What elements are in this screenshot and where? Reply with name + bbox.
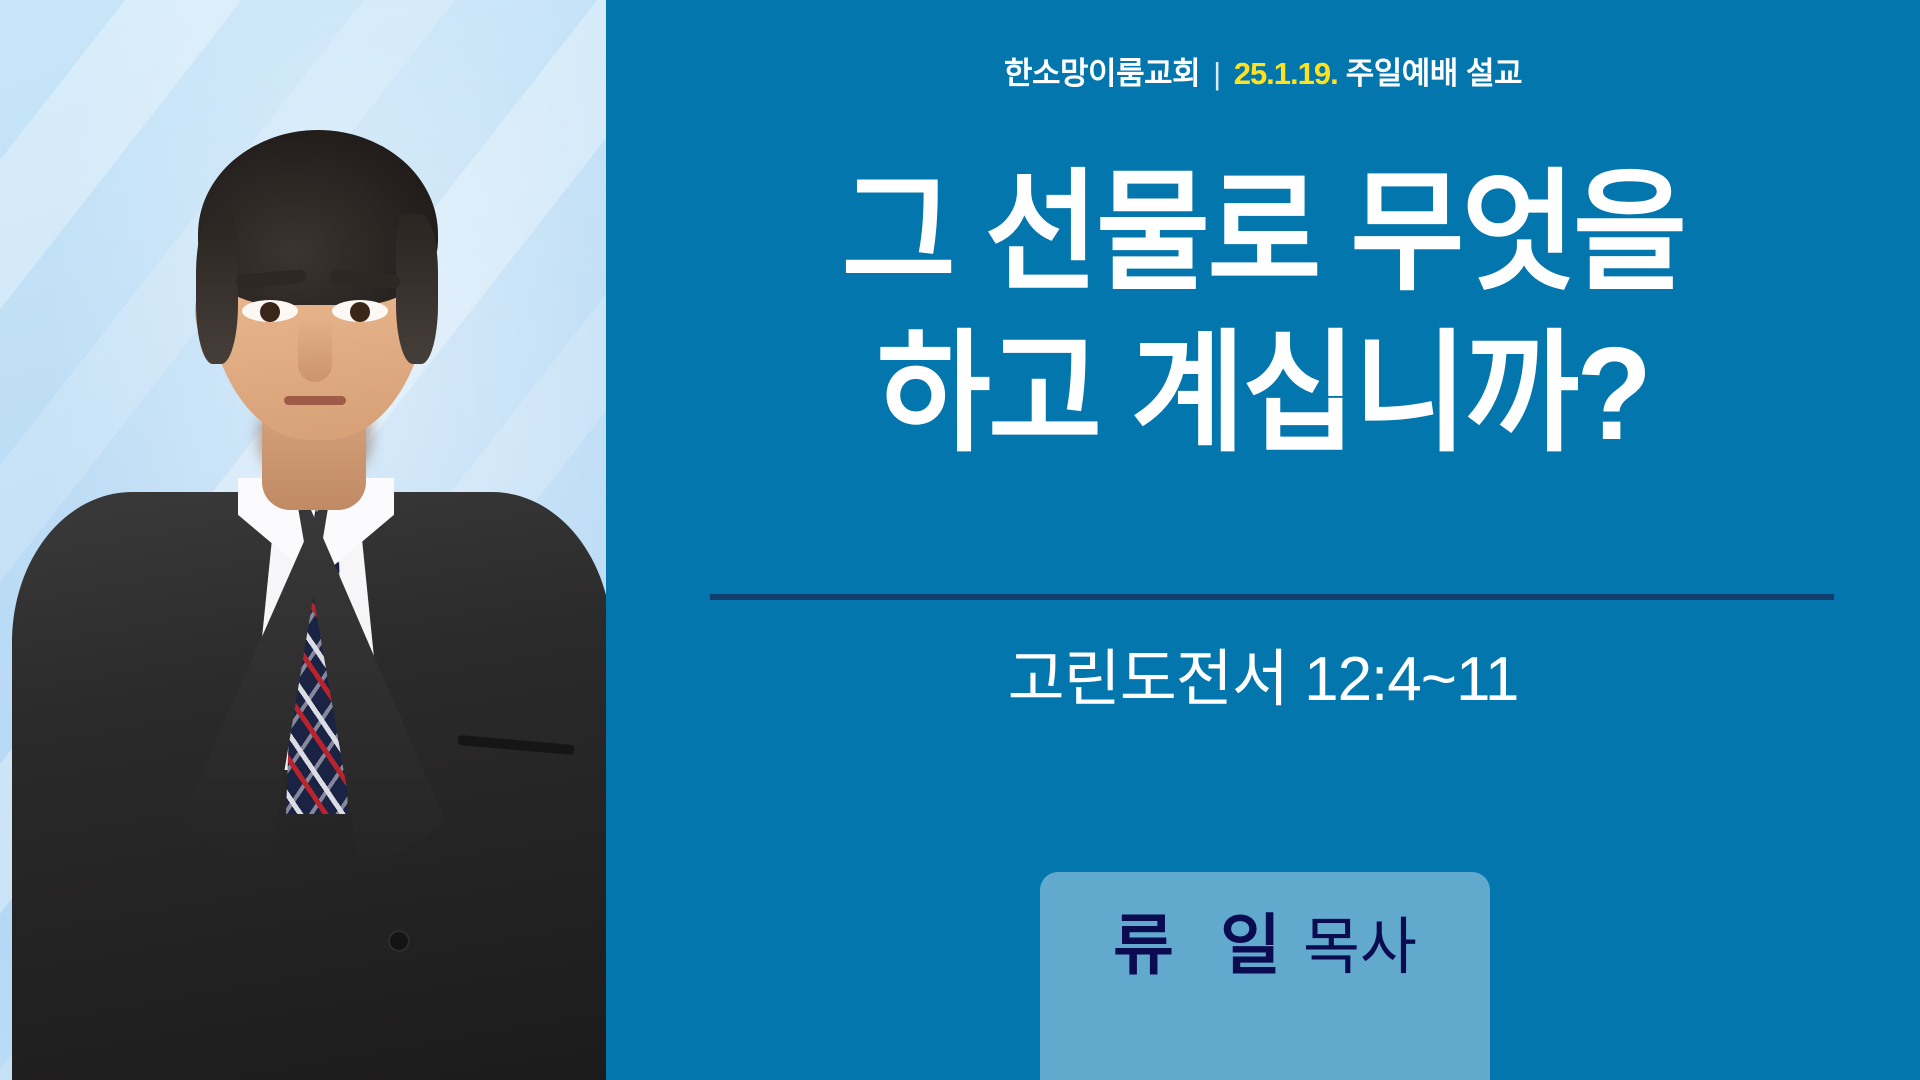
speaker-name-badge: 류 일목사 <box>1040 872 1490 1080</box>
sermon-title-line-1: 그 선물로 무엇을 <box>645 152 1880 313</box>
sermon-title: 그 선물로 무엇을 하고 계십니까? <box>606 152 1920 474</box>
portrait-eye-left <box>242 300 298 322</box>
speaker-photo-panel <box>0 0 606 1080</box>
portrait-mouth <box>284 396 346 405</box>
portrait-pupil-right <box>350 302 370 322</box>
portrait-nose <box>298 320 332 382</box>
portrait-jacket-button <box>388 930 410 952</box>
speaker-name: 류 일 <box>1113 908 1295 982</box>
portrait-eye-right <box>332 300 388 322</box>
content-panel: 한소망이룸교회|25.1.19.주일예배 설교 그 선물로 무엇을 하고 계십니… <box>606 0 1920 1080</box>
church-name: 한소망이룸교회 <box>1004 56 1200 91</box>
sermon-date: 25.1.19. <box>1234 56 1338 91</box>
sermon-thumbnail: 한소망이룸교회|25.1.19.주일예배 설교 그 선물로 무엇을 하고 계십니… <box>0 0 1920 1080</box>
scripture-reference: 고린도전서 12:4~11 <box>606 628 1920 718</box>
speaker-title: 목사 <box>1303 913 1417 982</box>
speaker-name-badge-text: 류 일목사 <box>1040 912 1490 979</box>
portrait-hair-side-right <box>396 214 438 364</box>
header-separator: | <box>1200 56 1234 91</box>
horizontal-divider <box>710 594 1834 600</box>
sermon-title-line-2: 하고 계십니까? <box>645 313 1880 474</box>
portrait-pupil-left <box>260 302 280 322</box>
portrait-hair-side-left <box>196 214 238 364</box>
header-meta-line: 한소망이룸교회|25.1.19.주일예배 설교 <box>606 48 1920 93</box>
service-name: 주일예배 설교 <box>1346 56 1522 91</box>
speaker-portrait-image <box>0 0 606 1080</box>
